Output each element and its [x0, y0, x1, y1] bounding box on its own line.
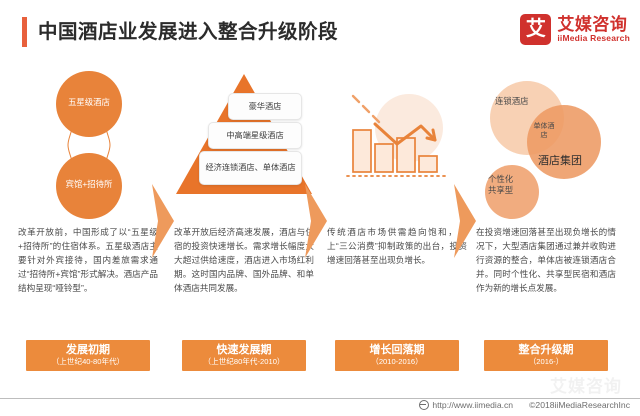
stage-column-2: 豪华酒店 中高端星级酒店 经济连锁酒店、单体酒店 改革开放后经济高速发展，酒店与… [170, 66, 318, 371]
watermark: 艾媒咨询 [550, 372, 622, 397]
footer-copyright: ©2018iiMediaResearchInc [529, 400, 630, 410]
phase-3-range: （2010-2016） [335, 357, 459, 367]
dumbbell-icon [28, 70, 150, 220]
phase-3-name: 增长回落期 [335, 344, 459, 358]
venn-separate-label: 个性化共享型 [488, 174, 513, 197]
page-header: 中国酒店业发展进入整合升级阶段 艾 艾媒咨询 iiMedia Research [0, 0, 640, 62]
phase-1-range: （上世纪40-80年代） [26, 357, 150, 367]
venn-visual: 连锁酒店 单体酒店 酒店集团 个性化共享型 [472, 66, 620, 221]
footer-url[interactable]: http://www.iimedia.cn [419, 400, 513, 410]
stage-column-4: 连锁酒店 单体酒店 酒店集团 个性化共享型 在投资增速回落甚至出现负增长的情况下… [472, 66, 620, 371]
venn-left-label: 连锁酒店 [495, 96, 529, 107]
globe-icon [419, 400, 429, 410]
logo-name-cn: 艾媒咨询 [557, 16, 630, 34]
stage-column-1: 五星级酒店 宾馆+招待所 改革开放前，中国形成了以“五星级+招待所”的住宿体系。… [14, 66, 162, 371]
decline-chart-visual [323, 66, 471, 221]
phase-2-name: 快速发展期 [182, 344, 306, 358]
column-3-description: 传统酒店市场供需趋向饱和，加上“三公消费”抑制政策的出台，投资增速回落甚至出现负… [327, 226, 467, 268]
page-title: 中国酒店业发展进入整合升级阶段 [38, 17, 338, 47]
phase-badge-1[interactable]: 发展初期 （上世纪40-80年代） [26, 340, 150, 371]
logo-name-en: iiMedia Research [557, 34, 630, 43]
column-1-description: 改革开放前，中国形成了以“五星级+招待所”的住宿体系。五星级酒店主要针对外宾接待… [18, 226, 158, 296]
phase-badge-3[interactable]: 增长回落期 （2010-2016） [335, 340, 459, 371]
phase-1-name: 发展初期 [26, 344, 150, 358]
timeline-stage: 五星级酒店 宾馆+招待所 改革开放前，中国形成了以“五星级+招待所”的住宿体系。… [0, 66, 640, 371]
phase-4-range: （2016-） [484, 357, 608, 367]
page-footer: http://www.iimedia.cn ©2018iiMediaResear… [419, 400, 630, 410]
column-2-description: 改革开放后经济高速发展，酒店与住宿的投资快速增长。需求增长幅度大大超过供给速度，… [174, 226, 314, 296]
title-accent-bar [22, 17, 27, 47]
phase-badge-4[interactable]: 整合升级期 （2016-） [484, 340, 608, 371]
venn-overlap-label: 单体酒店 [532, 122, 556, 141]
pyramid-tier-2: 中高端星级酒店 [208, 122, 302, 149]
venn-right-label: 酒店集团 [538, 154, 582, 169]
phase-badge-2[interactable]: 快速发展期 （上世纪80年代-2010） [182, 340, 306, 371]
pyramid-tier-1: 豪华酒店 [228, 93, 302, 120]
logo-text: 艾媒咨询 iiMedia Research [557, 16, 630, 43]
column-4-description: 在投资增速回落甚至出现负增长的情况下，大型酒店集团通过兼并收购进行资源的整合，单… [476, 226, 616, 296]
brand-logo: 艾 艾媒咨询 iiMedia Research [520, 14, 630, 45]
footer-divider [0, 398, 640, 399]
logo-mark-icon: 艾 [520, 14, 551, 45]
pyramid-visual: 豪华酒店 中高端星级酒店 经济连锁酒店、单体酒店 [170, 66, 318, 221]
stage-column-3: 传统酒店市场供需趋向饱和，加上“三公消费”抑制政策的出台，投资增速回落甚至出现负… [323, 66, 471, 371]
phase-4-name: 整合升级期 [484, 344, 608, 358]
declining-bar-chart-icon [335, 82, 459, 194]
venn-diagram-icon [472, 70, 620, 220]
pyramid-tier-3: 经济连锁酒店、单体酒店 [199, 151, 302, 185]
phase-2-range: （上世纪80年代-2010） [182, 357, 306, 367]
dumbbell-visual: 五星级酒店 宾馆+招待所 [14, 66, 162, 221]
footer-url-text: http://www.iimedia.cn [432, 400, 513, 410]
